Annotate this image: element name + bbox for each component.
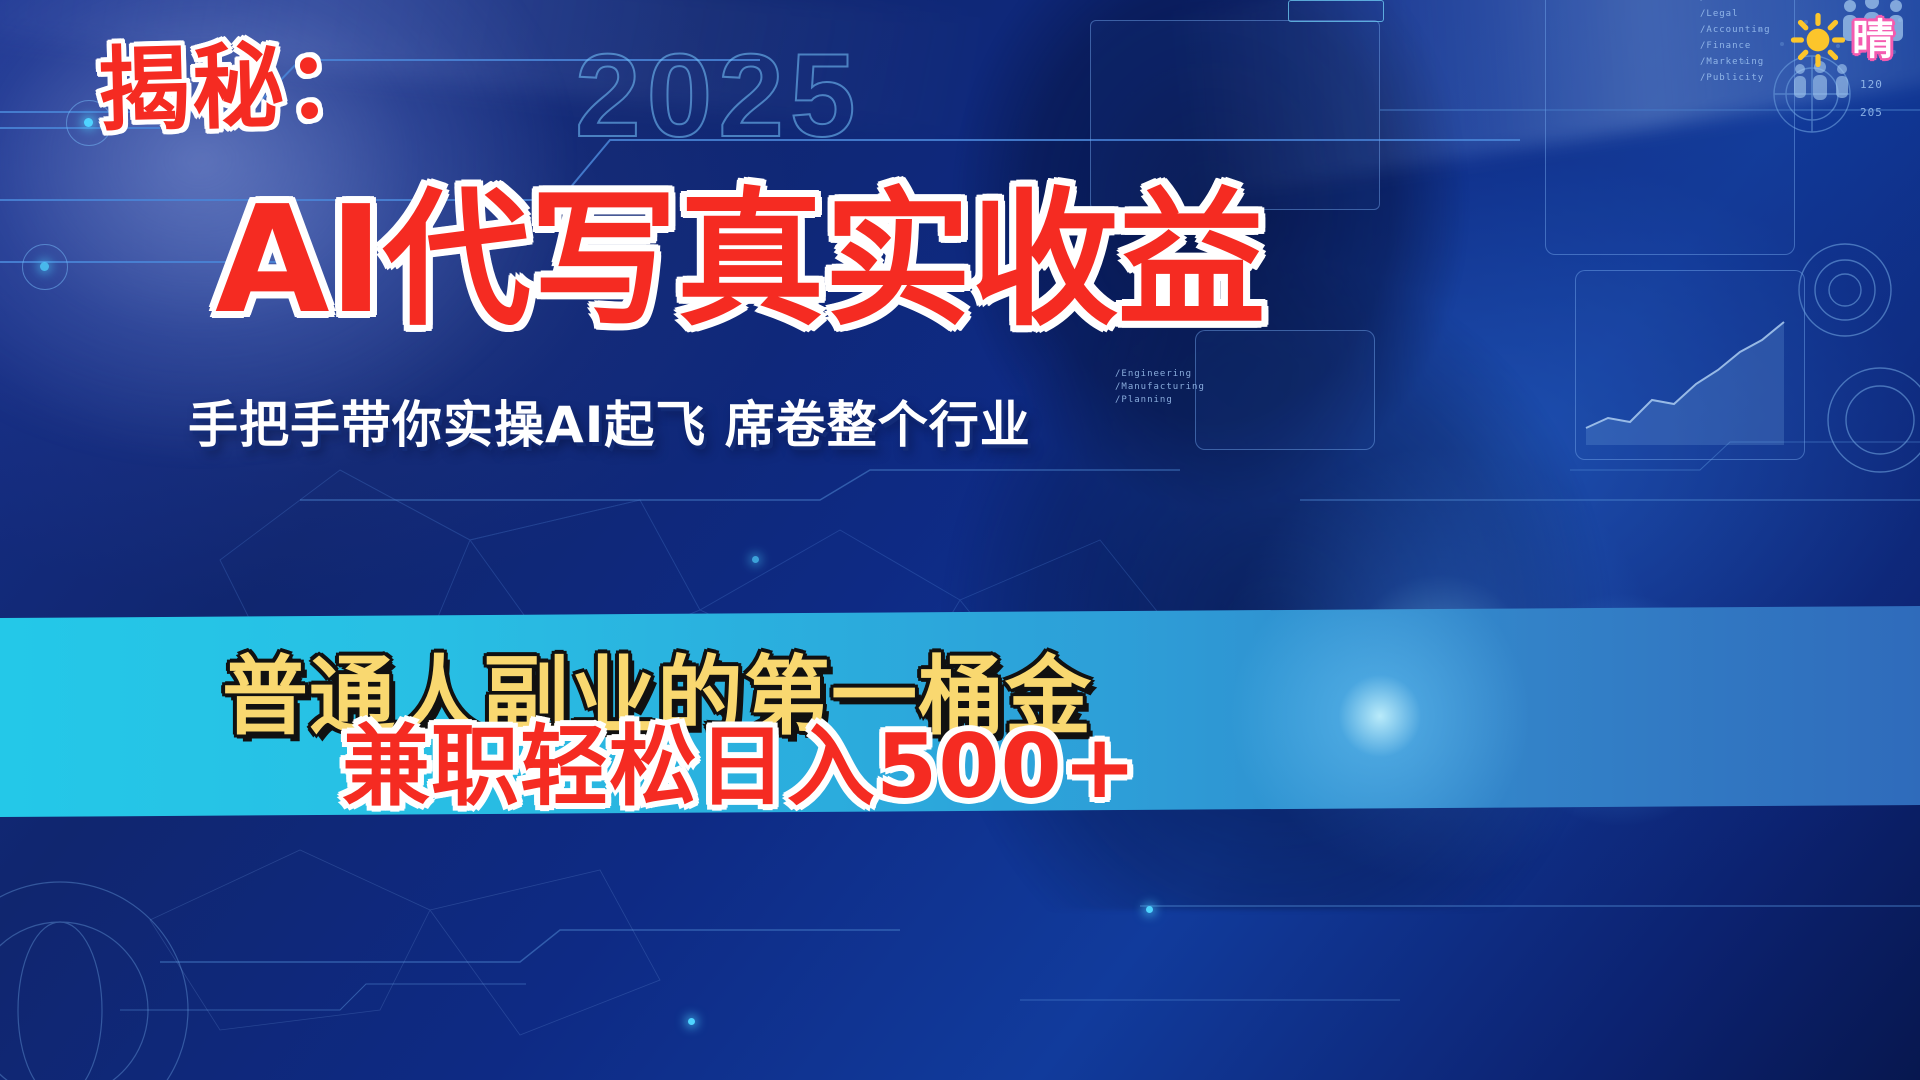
hud-sparkline-chart — [1578, 300, 1808, 450]
weather-widget: 晴 — [1790, 12, 1894, 68]
hud-card-chart — [1575, 270, 1805, 460]
gauge-value-205: 205 — [1860, 106, 1883, 119]
tagline-text: 兼职轻松日入500+ — [342, 723, 1137, 811]
hud-label-marketing: /Marketing — [1700, 56, 1764, 69]
hud-label-manufacturing: /Manufacturing — [1115, 381, 1205, 394]
node-dot-2 — [40, 262, 49, 271]
node-dot-4 — [688, 1018, 695, 1025]
circuit-lines-svg — [0, 0, 1920, 1080]
subline-text: 手把手带你实操AI起飞 席卷整个行业 — [188, 400, 1031, 450]
hud-tag — [1288, 0, 1384, 22]
sun-icon — [1790, 12, 1846, 68]
hud-label-planning: /Planning — [1115, 394, 1173, 407]
hud-label-legal: /Legal — [1700, 8, 1739, 21]
hud-label-engineering: /Engineering — [1115, 368, 1192, 381]
background-decorations: /Human /Legal /Accounting /Finance /Mark… — [0, 0, 1920, 1080]
node-dot-6 — [752, 556, 759, 563]
hud-card-small — [1195, 330, 1375, 450]
node-dot-1 — [84, 118, 93, 127]
people-icons-b — [1790, 60, 1920, 130]
hud-label-human: /Human — [1700, 0, 1739, 5]
hud-label-publicity: /Publicity — [1700, 72, 1764, 85]
node-ring-2 — [22, 244, 68, 290]
band-light-burst — [1170, 566, 1590, 866]
poster-canvas: /Human /Legal /Accounting /Finance /Mark… — [0, 0, 1920, 1080]
hud-label-accounting: /Accounting — [1700, 24, 1771, 37]
hud-card-top — [1545, 0, 1795, 255]
node-dot-5 — [1146, 906, 1153, 913]
hud-label-finance: /Finance — [1700, 40, 1751, 53]
year-watermark: 2025 — [575, 28, 862, 164]
kicker-text: 揭秘： — [97, 38, 381, 137]
weather-label: 晴 — [1852, 19, 1894, 61]
headline-text: AI代写真实收益 — [215, 185, 1265, 336]
gauge-value-120: 120 — [1860, 78, 1883, 91]
